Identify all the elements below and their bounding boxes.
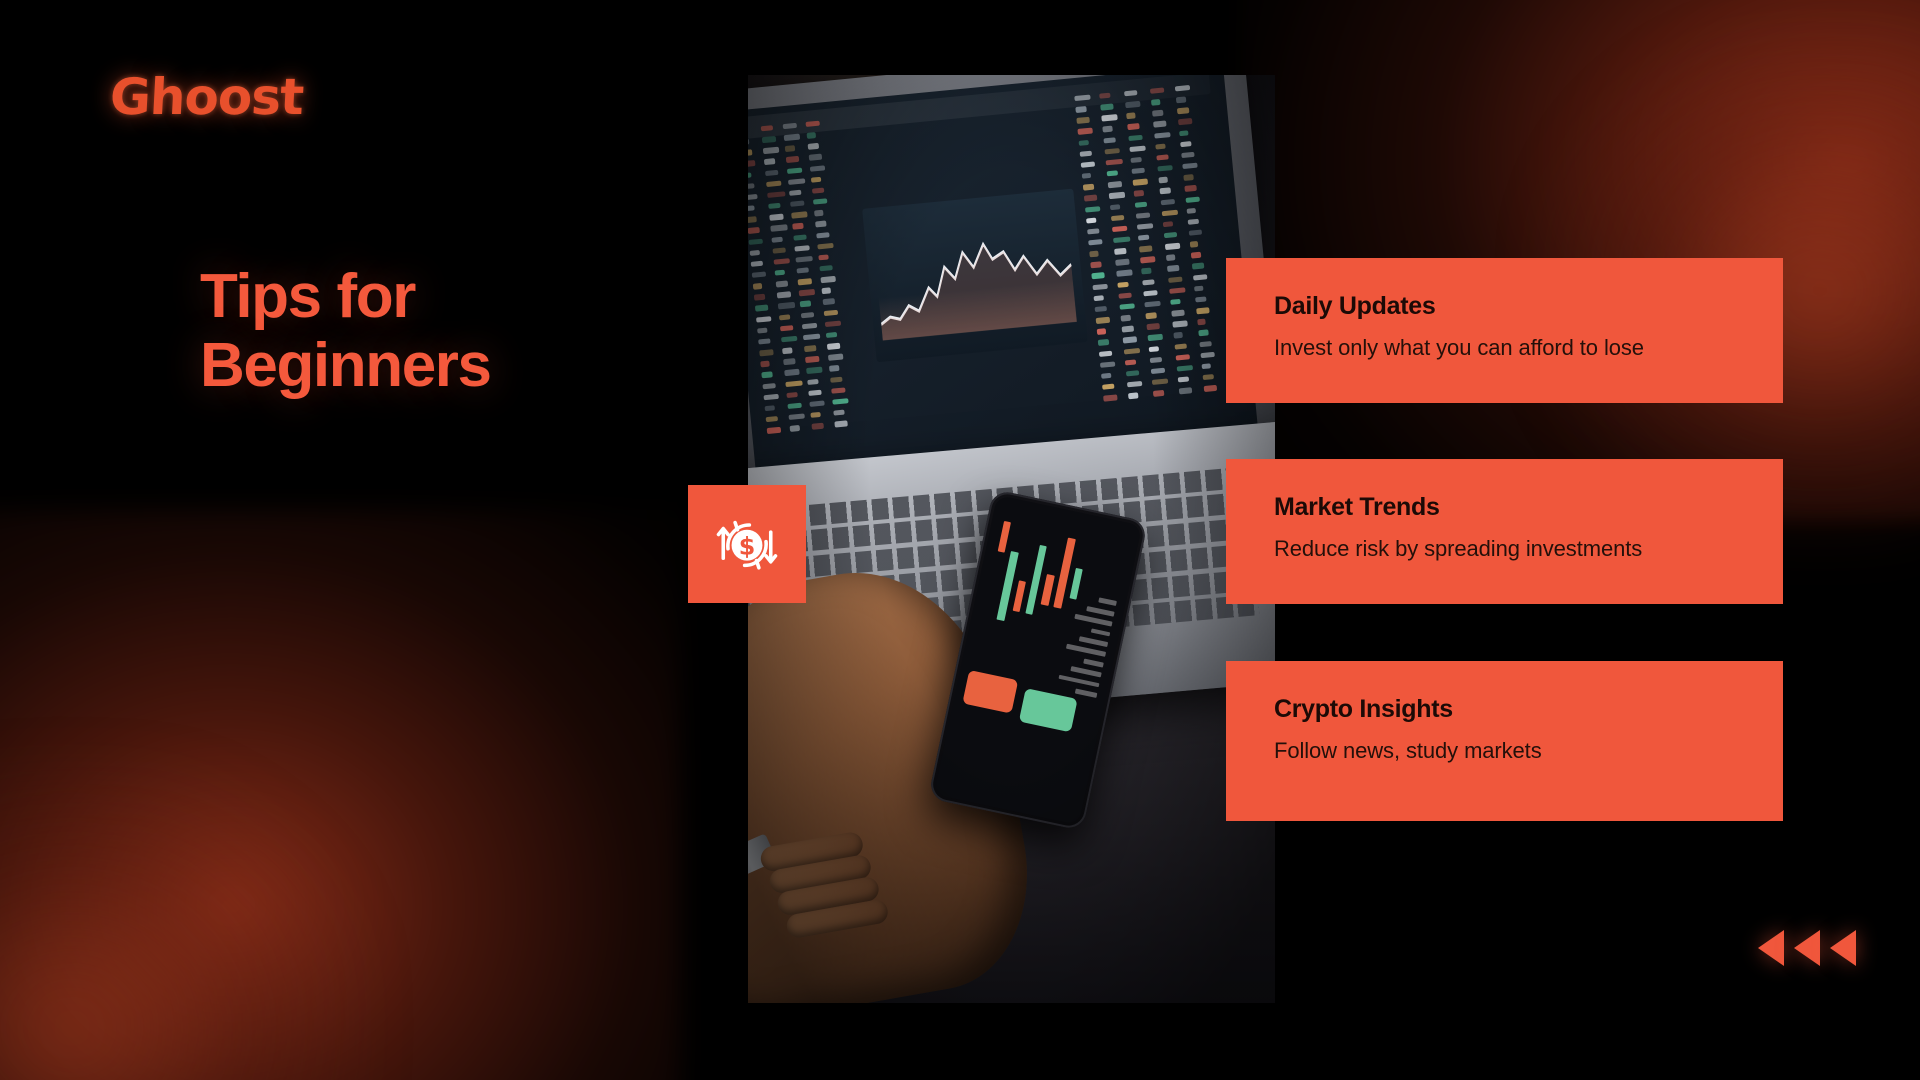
photo-vignette [748, 75, 1275, 1003]
slide-navigation[interactable] [1758, 930, 1856, 966]
tip-card-body: Invest only what you can afford to lose [1274, 335, 1735, 361]
brand-logo[interactable]: Ghoost [108, 68, 304, 126]
tip-card-body: Reduce risk by spreading investments [1274, 536, 1735, 562]
prev-arrow-icon-3[interactable] [1830, 930, 1856, 966]
prev-arrow-icon-1[interactable] [1758, 930, 1784, 966]
money-exchange-icon: $ [709, 506, 785, 582]
page-title-line-1: Tips for [200, 262, 415, 331]
photo-scene [748, 75, 1275, 1003]
hero-photo [748, 75, 1275, 1003]
tip-card-crypto-insights[interactable]: Crypto Insights Follow news, study marke… [1226, 661, 1783, 821]
tip-card-title: Daily Updates [1274, 292, 1735, 321]
prev-arrow-icon-2[interactable] [1794, 930, 1820, 966]
background-glow-bottom-left-core [0, 770, 360, 1080]
page-title: Tips for Beginners [200, 262, 491, 401]
tip-card-body: Follow news, study markets [1274, 738, 1735, 764]
money-exchange-badge[interactable]: $ [688, 485, 806, 603]
background-glow-bottom-left [0, 510, 680, 1080]
tip-card-market-trends[interactable]: Market Trends Reduce risk by spreading i… [1226, 459, 1783, 604]
tip-card-title: Crypto Insights [1274, 695, 1735, 724]
tip-card-title: Market Trends [1274, 493, 1735, 522]
page-title-line-2: Beginners [200, 331, 491, 400]
tip-card-daily-updates[interactable]: Daily Updates Invest only what you can a… [1226, 258, 1783, 403]
svg-text:$: $ [739, 533, 756, 561]
